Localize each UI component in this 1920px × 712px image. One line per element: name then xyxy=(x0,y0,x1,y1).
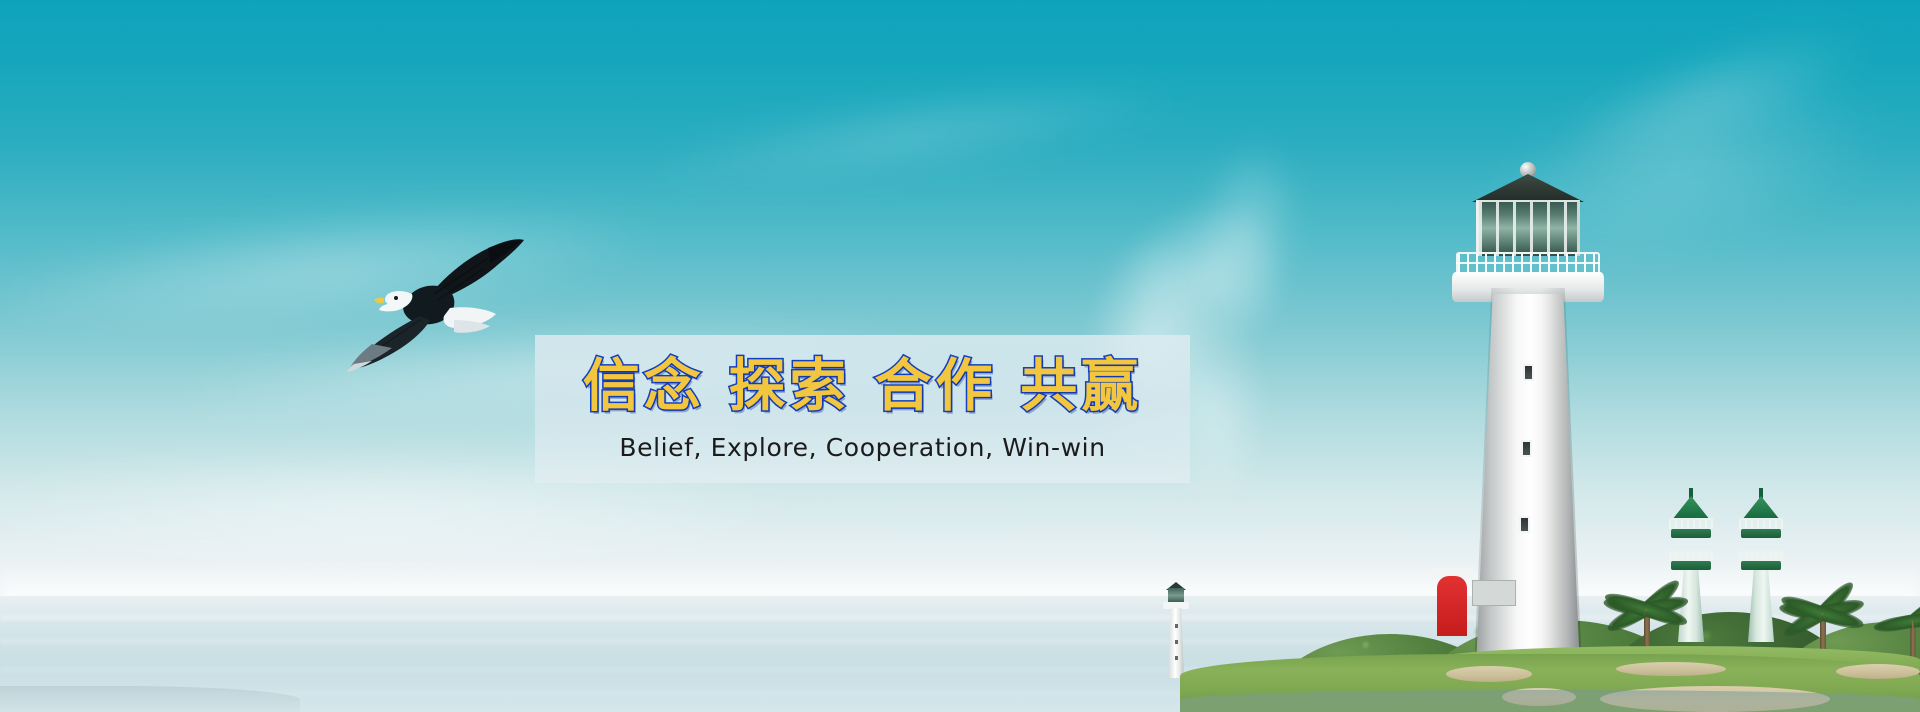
foreshore xyxy=(1180,690,1920,712)
slogan-panel: 信念 探索 合作 共赢 Belief, Explore, Cooperation… xyxy=(535,335,1190,483)
slogan-english: Belief, Explore, Cooperation, Win-win xyxy=(619,433,1105,462)
tower-shaft xyxy=(1748,570,1774,642)
lighthouse-gallery-rail-mid xyxy=(1456,262,1600,264)
lighthouse-window xyxy=(1519,516,1530,533)
tower-band xyxy=(1741,561,1781,570)
eagle-icon xyxy=(338,228,528,378)
tower-roof xyxy=(1742,496,1780,520)
distant-lighthouse-gallery xyxy=(1163,602,1189,609)
distant-lighthouse-window xyxy=(1175,640,1178,644)
lighthouse-window xyxy=(1523,364,1534,381)
tower-railing xyxy=(1739,550,1783,561)
sand-bunker xyxy=(1446,666,1532,682)
lighthouse-plaque xyxy=(1472,580,1516,606)
distant-lighthouse-window xyxy=(1175,624,1178,628)
lighthouse-roof xyxy=(1472,174,1584,202)
sand-bunker xyxy=(1836,664,1920,679)
distant-lighthouse-lantern xyxy=(1168,588,1184,603)
green-tower-right xyxy=(1730,492,1792,642)
distant-lighthouse-window xyxy=(1175,656,1178,660)
sand-bunker xyxy=(1616,662,1726,676)
tower-band xyxy=(1671,529,1711,538)
tower-band xyxy=(1741,529,1781,538)
tower-railing xyxy=(1669,518,1713,529)
lighthouse-window xyxy=(1521,440,1532,457)
tower-railing xyxy=(1669,550,1713,561)
shoreline-spit xyxy=(0,686,300,712)
tower-roof xyxy=(1672,496,1710,520)
lighthouse-shading xyxy=(1474,288,1582,668)
tower-railing xyxy=(1739,518,1783,529)
hero-banner: 信念 探索 合作 共赢 Belief, Explore, Cooperation… xyxy=(0,0,1920,712)
distant-lighthouse-icon xyxy=(1156,582,1196,678)
slogan-chinese: 信念 探索 合作 共赢 xyxy=(583,358,1143,415)
lighthouse-door xyxy=(1437,576,1467,636)
tower-band xyxy=(1671,561,1711,570)
lighthouse-lantern-room xyxy=(1476,200,1580,256)
